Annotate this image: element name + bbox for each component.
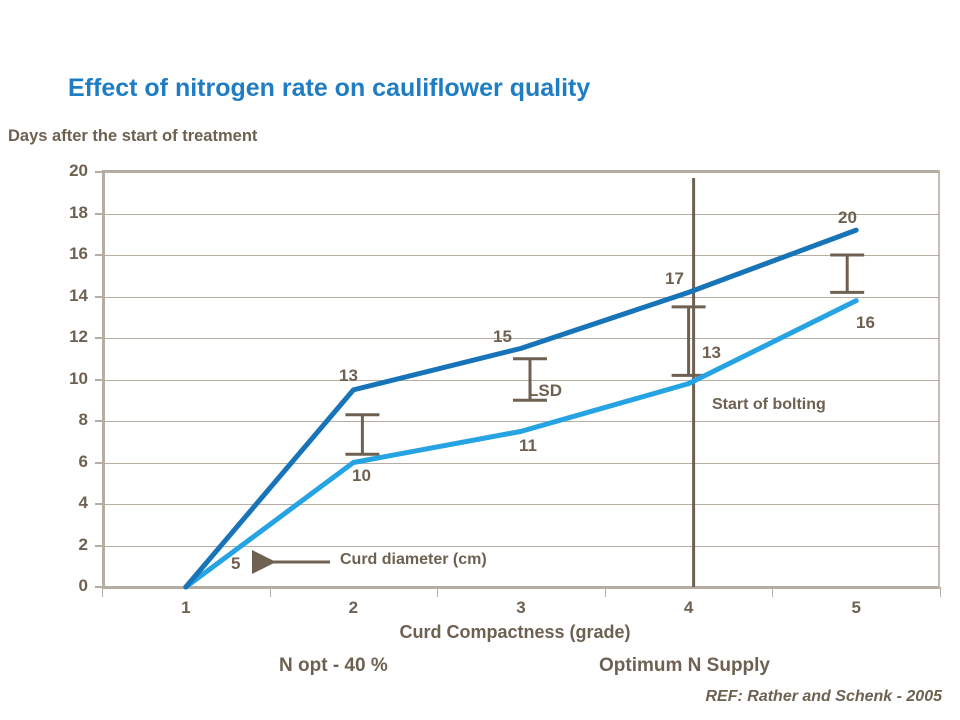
- gridline: [102, 504, 940, 505]
- gridline: [102, 214, 940, 215]
- y-axis-label: Days after the start of treatment: [8, 127, 257, 146]
- y-tick-label: 6: [44, 452, 88, 472]
- legend-label-n-opt-40: N opt - 40 %: [279, 655, 388, 677]
- gridline: [102, 380, 940, 381]
- point-label-light-2: 10: [352, 466, 371, 486]
- x-tick-label: 4: [669, 598, 709, 618]
- gridline: [102, 338, 940, 339]
- y-tick-label: 14: [44, 286, 88, 306]
- gridline: [102, 587, 940, 588]
- reference-note: REF: Rather and Schenk - 2005: [705, 688, 942, 706]
- x-tick-mark: [605, 587, 606, 597]
- legend-swatch-dark-blue: [560, 663, 596, 669]
- y-tick-label: 18: [44, 203, 88, 223]
- y-tick-mark: [95, 254, 102, 256]
- y-tick-mark: [95, 379, 102, 381]
- chart-legend: N opt - 40 % Optimum N Supply: [0, 655, 960, 685]
- start-of-bolting-label: Start of bolting: [712, 396, 826, 414]
- y-tick-label: 0: [44, 576, 88, 596]
- legend-label-optimum-n-supply: Optimum N Supply: [599, 655, 770, 677]
- y-tick-mark: [95, 171, 102, 173]
- gridline: [102, 255, 940, 256]
- gridline: [102, 297, 940, 298]
- x-tick-mark: [940, 587, 941, 597]
- point-label-light-1: 5: [231, 554, 240, 574]
- y-tick-mark: [95, 462, 102, 464]
- chart-canvas: Effect of nitrogen rate on cauliflower q…: [0, 0, 960, 720]
- x-tick-mark: [437, 587, 438, 597]
- point-label-light-4: 13: [702, 343, 721, 363]
- point-label-dark-2: 13: [339, 366, 358, 386]
- y-tick-mark: [95, 337, 102, 339]
- y-tick-mark: [95, 213, 102, 215]
- page-title: Effect of nitrogen rate on cauliflower q…: [68, 74, 590, 103]
- gridline: [102, 546, 940, 547]
- legend-item-n-opt-40[interactable]: N opt - 40 %: [240, 655, 388, 677]
- gridline: [102, 463, 940, 464]
- x-axis-label-text: Curd Compactness (grade): [329, 622, 630, 642]
- y-tick-mark: [95, 545, 102, 547]
- y-tick-label: 4: [44, 493, 88, 513]
- x-tick-label: 1: [166, 598, 206, 618]
- y-tick-label: 2: [44, 535, 88, 555]
- curd-diameter-label: Curd diameter (cm): [340, 551, 487, 569]
- legend-swatch-light-blue: [240, 663, 276, 669]
- gridline: [102, 172, 940, 173]
- plot-area: [102, 172, 940, 587]
- x-tick-label: 2: [333, 598, 373, 618]
- y-tick-mark: [95, 420, 102, 422]
- x-tick-mark: [772, 587, 773, 597]
- x-tick-label: 3: [501, 598, 541, 618]
- y-tick-label: 10: [44, 369, 88, 389]
- y-tick-mark: [95, 503, 102, 505]
- y-tick-label: 12: [44, 327, 88, 347]
- y-tick-label: 8: [44, 410, 88, 430]
- y-tick-label: 20: [44, 161, 88, 181]
- point-label-dark-4: 17: [665, 269, 684, 289]
- x-tick-mark: [270, 587, 271, 597]
- y-tick-label: 16: [44, 244, 88, 264]
- legend-item-optimum-n-supply[interactable]: Optimum N Supply: [560, 655, 770, 677]
- lsd-label: LSD: [528, 381, 562, 401]
- point-label-dark-5: 20: [838, 208, 857, 228]
- point-label-light-5: 16: [856, 313, 875, 333]
- gridline: [102, 421, 940, 422]
- y-tick-mark: [95, 296, 102, 298]
- point-label-light-3: 11: [519, 436, 537, 456]
- y-tick-mark: [95, 586, 102, 588]
- x-tick-mark: [102, 587, 103, 597]
- point-label-dark-3: 15: [493, 327, 512, 347]
- x-tick-label: 5: [836, 598, 876, 618]
- x-axis-label: Curd Compactness (grade): [0, 622, 960, 643]
